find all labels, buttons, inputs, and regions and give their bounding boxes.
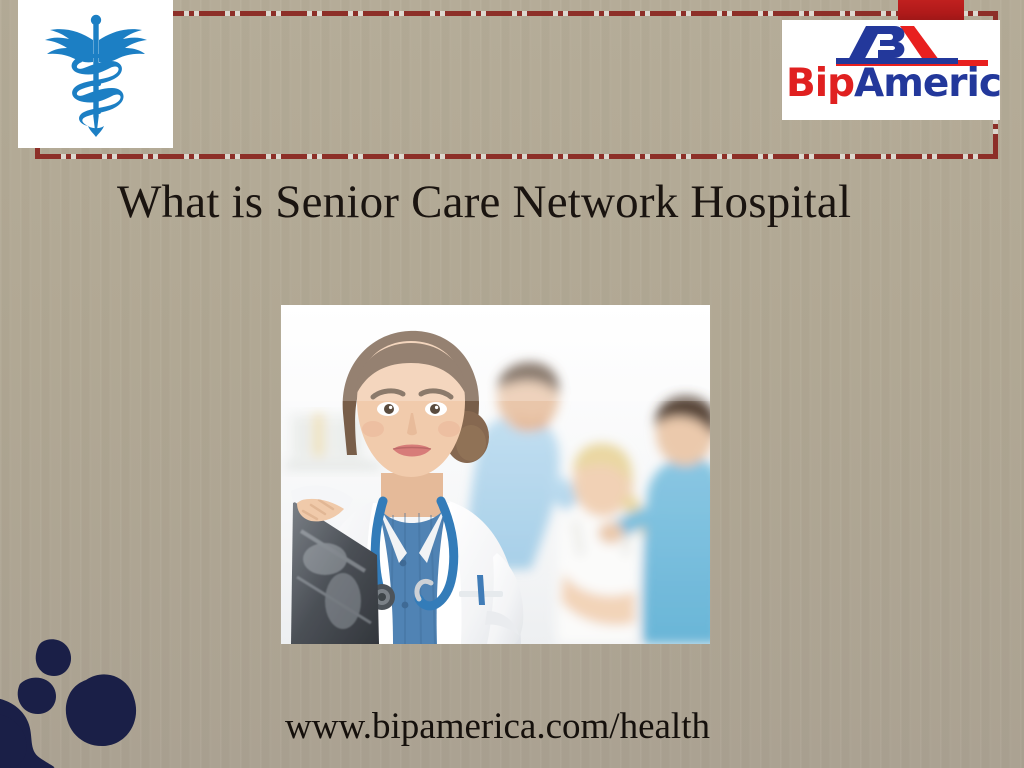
brand-logo-wordmark: BipAmerica — [786, 64, 996, 103]
caduceus-icon — [36, 10, 156, 138]
header-frame-top-border — [35, 11, 998, 16]
hospital-staff-photo — [281, 305, 710, 644]
brand-logo-wordmark-part1: Bip — [786, 61, 854, 106]
brand-logo-wordmark-part2: America — [854, 61, 1000, 106]
brand-logo-card[interactable]: BipAmerica — [782, 20, 1000, 120]
header-red-accent-tab — [898, 0, 964, 21]
slide-canvas: BipAmerica What is Senior Care Network H… — [0, 0, 1024, 768]
header-frame-bottom-border — [35, 154, 998, 159]
footer-url: www.bipamerica.com/health — [285, 705, 710, 748]
page-title: What is Senior Care Network Hospital — [117, 175, 977, 229]
caduceus-logo-card — [18, 0, 173, 148]
decorative-blob-cluster — [0, 618, 200, 768]
